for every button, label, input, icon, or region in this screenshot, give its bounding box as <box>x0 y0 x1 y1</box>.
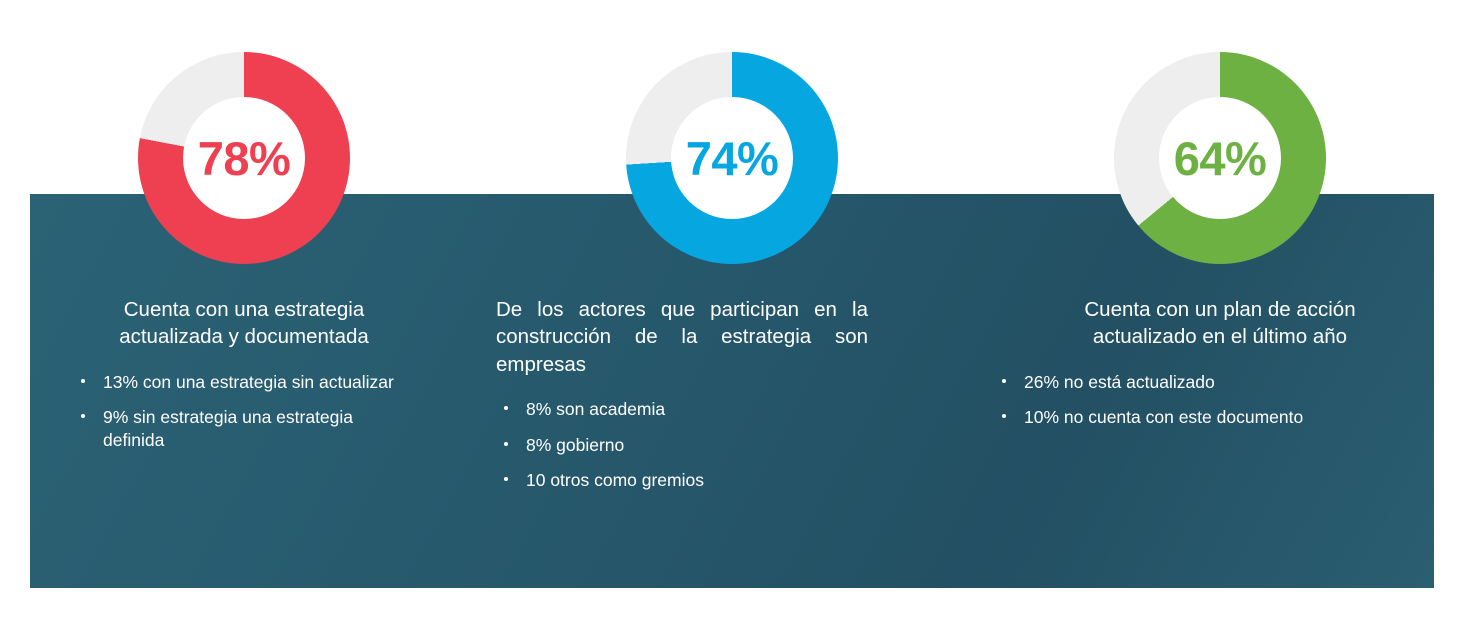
stat-column-1: 78% Cuenta con una estrategia actualizad… <box>0 0 488 630</box>
donut-hole-3: 64% <box>1159 97 1281 219</box>
stat-bullet-list-3: 26% no está actualizado10% no cuenta con… <box>996 371 1356 430</box>
bullet-dot-icon <box>504 406 508 410</box>
stat-bullet-item: 26% no está actualizado <box>996 371 1356 394</box>
bullet-dot-icon <box>504 442 508 446</box>
stat-bullet-list-1: 13% con una estrategia sin actualizar9% … <box>75 371 415 452</box>
bullet-dot-icon <box>81 414 85 418</box>
donut-value-label-1: 78% <box>198 135 291 182</box>
bullet-dot-icon <box>81 379 85 383</box>
donut-value-label-2: 74% <box>686 135 779 182</box>
stat-bullet-item: 8% son academia <box>498 398 838 421</box>
donut-chart-3: 64% <box>1114 52 1326 264</box>
donut-hole-2: 74% <box>671 97 793 219</box>
donut-chart-2: 74% <box>626 52 838 264</box>
bullet-dot-icon <box>1002 414 1006 418</box>
stat-text-block-2: De los actores que participan en la cons… <box>488 296 976 505</box>
donut-value-label-3: 64% <box>1174 135 1267 182</box>
stat-bullet-item: 13% con una estrategia sin actualizar <box>75 371 415 394</box>
stat-bullet-item: 9% sin estrategia una estrategia definid… <box>75 406 415 452</box>
bullet-dot-icon <box>504 477 508 481</box>
donut-chart-1: 78% <box>138 52 350 264</box>
stat-bullet-item: 8% gobierno <box>498 434 838 457</box>
stat-column-3: 64% Cuenta con un plan de acción actuali… <box>976 0 1464 630</box>
stat-text-block-1: Cuenta con una estrategia actualizada y … <box>0 296 488 465</box>
stat-text-block-3: Cuenta con un plan de acción actualizado… <box>976 296 1464 442</box>
stat-heading-1: Cuenta con una estrategia actualizada y … <box>79 296 409 351</box>
stat-heading-3: Cuenta con un plan de acción actualizado… <box>1055 296 1385 351</box>
stat-column-2: 74% De los actores que participan en la … <box>488 0 976 630</box>
stat-bullet-list-2: 8% son academia8% gobierno10 otros como … <box>498 398 838 492</box>
bullet-dot-icon <box>1002 379 1006 383</box>
stat-heading-2: De los actores que participan en la cons… <box>496 296 868 378</box>
stats-columns: 78% Cuenta con una estrategia actualizad… <box>0 0 1464 630</box>
stat-bullet-item: 10% no cuenta con este documento <box>996 406 1356 429</box>
stat-bullet-item: 10 otros como gremios <box>498 469 838 492</box>
donut-hole-1: 78% <box>183 97 305 219</box>
